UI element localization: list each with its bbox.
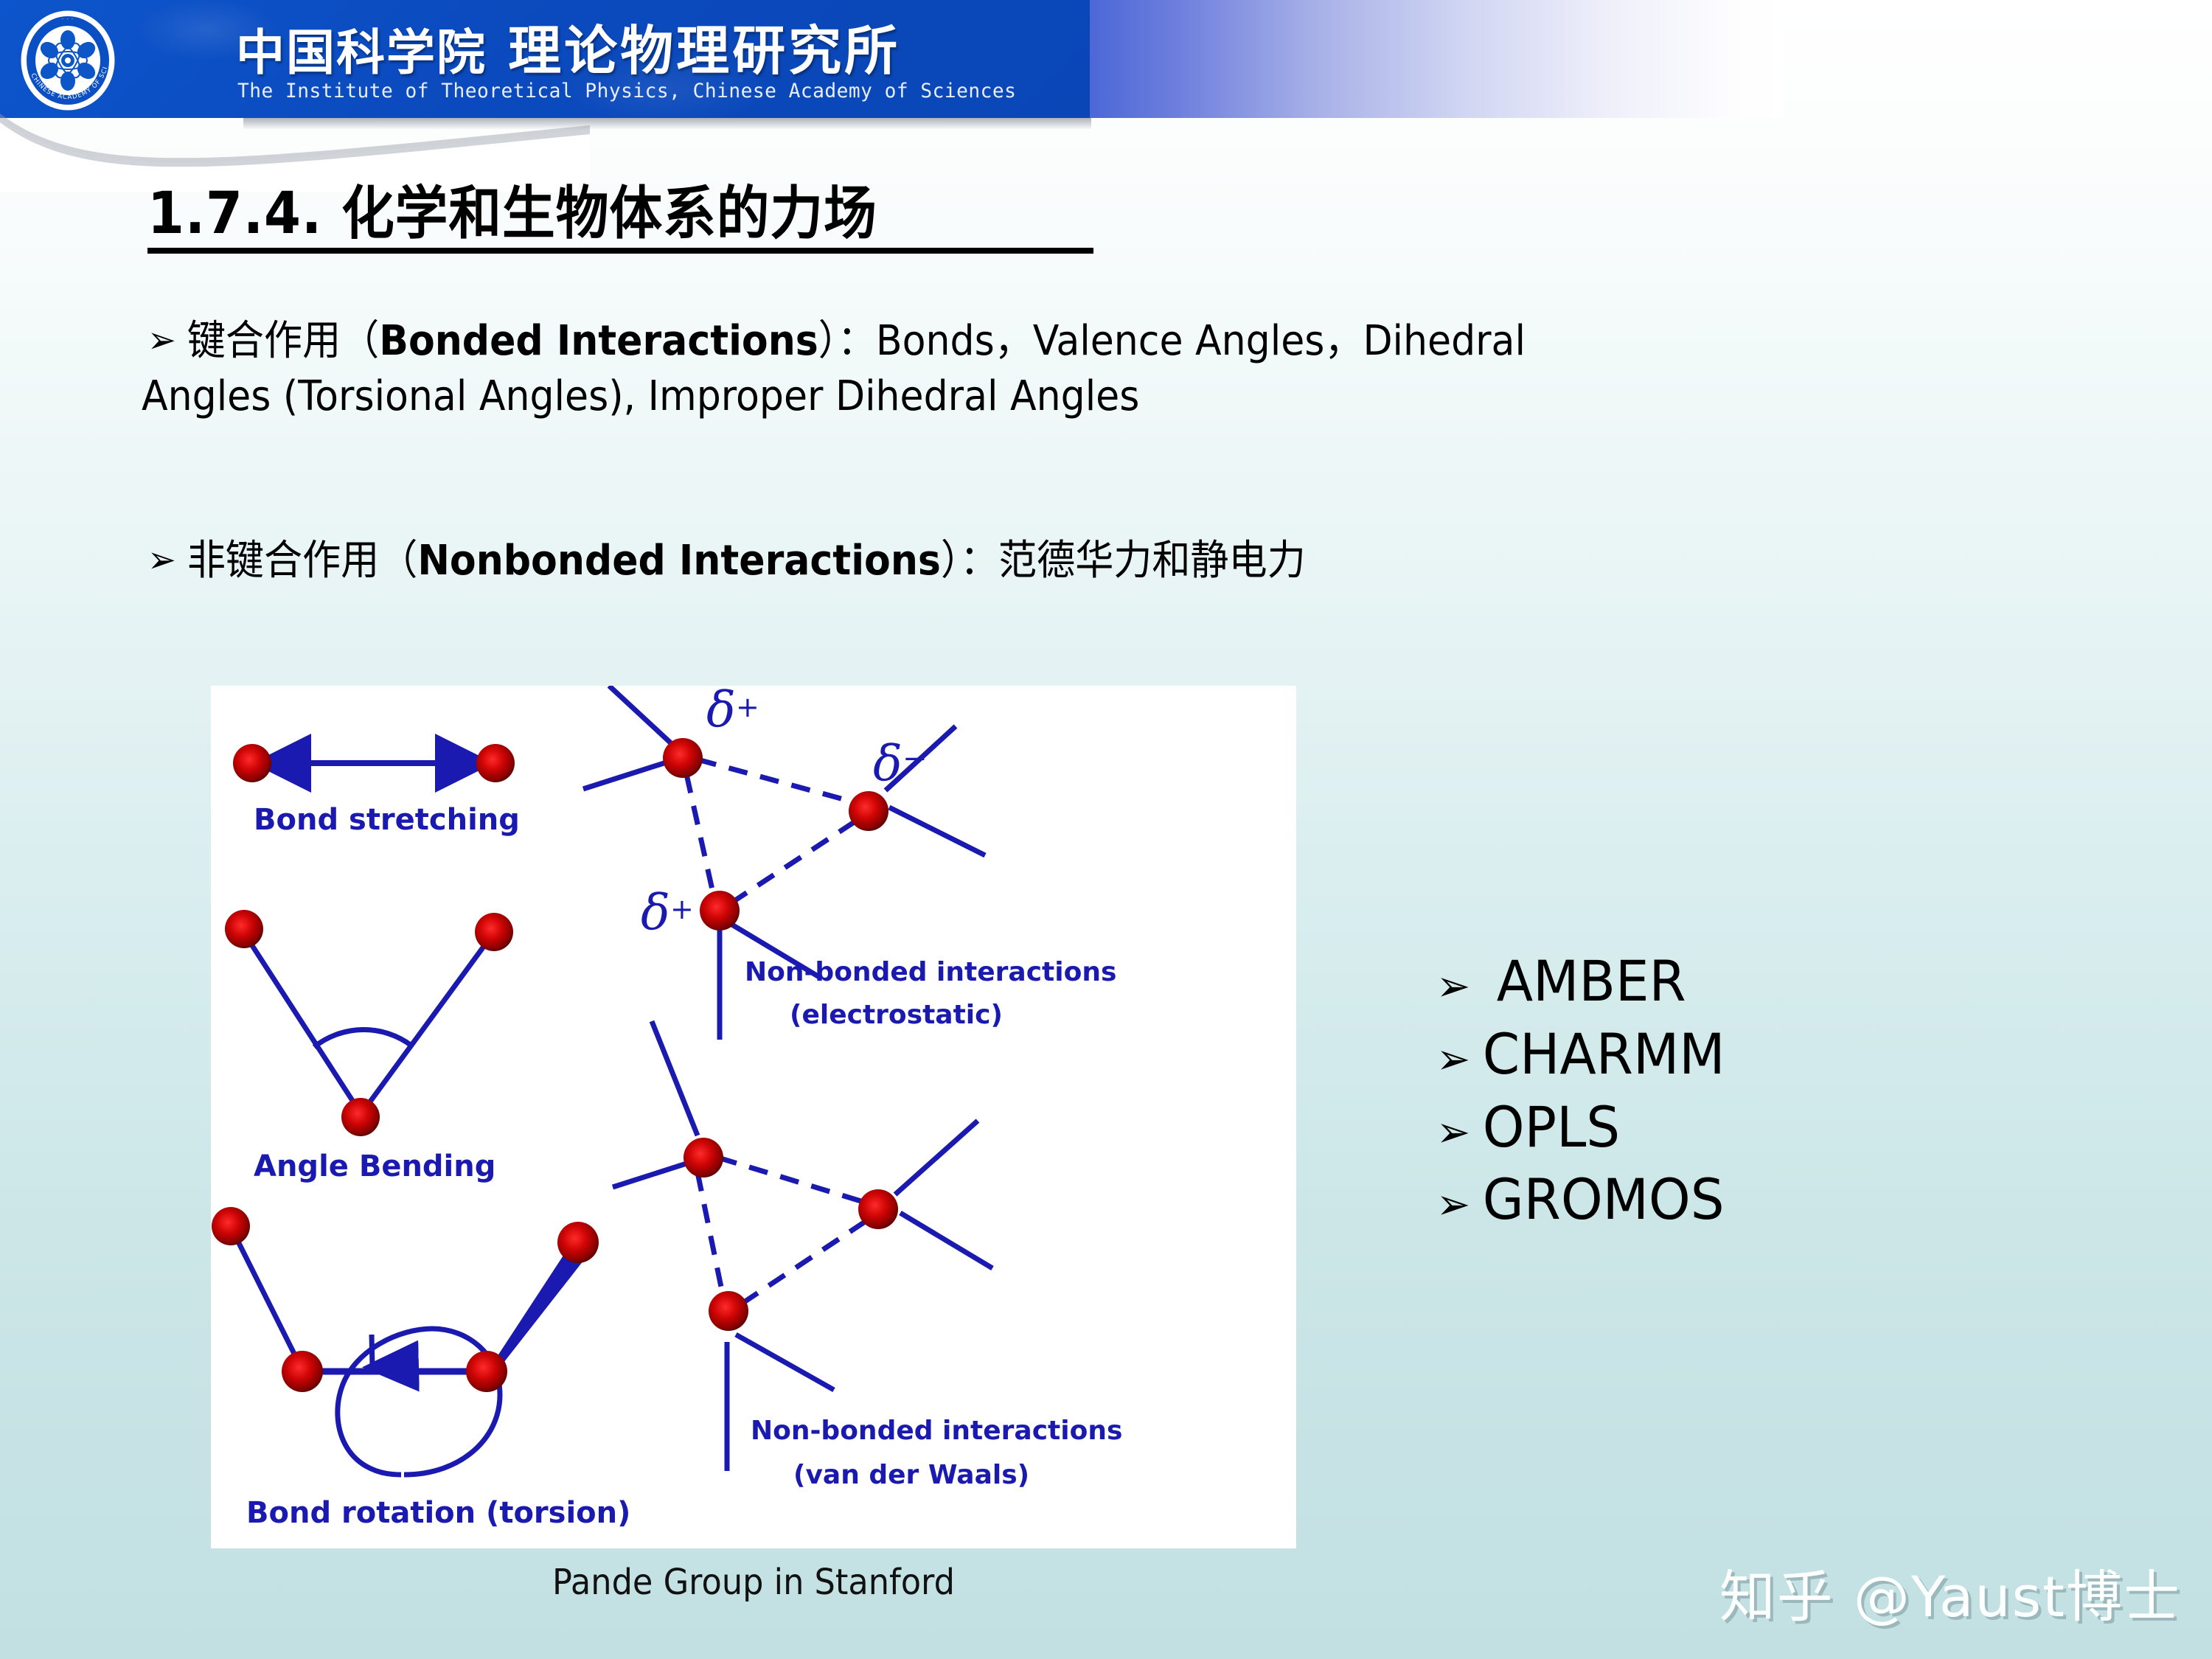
bullet-nonbonded-line1: ➢非键合作用（Nonbonded Interactions）：范德华力和静电力: [147, 538, 1903, 585]
watermark: 知乎 @Yaust博士: [1719, 1551, 2181, 1632]
slide-canvas: · · · CHINESE ACADEMY OF SCIENCES 中国科学院 …: [0, 0, 2212, 1659]
bullet-bonded-interactions: ➢键合作用（Bonded Interactions）：Bonds，Valence…: [147, 319, 2035, 420]
force-field-label: GROMOS: [1483, 1164, 1725, 1237]
bullet-bonded-rest: Bonds，Valence Angles，Dihedral: [876, 317, 1526, 365]
bullet-arrow-icon: ➢: [1436, 959, 1483, 1014]
svg-text:Bond rotation (torsion): Bond rotation (torsion): [246, 1496, 630, 1530]
svg-text:δ: δ: [873, 735, 902, 792]
force-field-label: AMBER: [1483, 945, 1686, 1018]
force-field-item-charmm[interactable]: ➢ CHARMM: [1436, 1018, 2067, 1091]
bullet-bonded-en: Bonded Interactions: [379, 317, 818, 365]
svg-text:(van der Waals): (van der Waals): [793, 1460, 1029, 1490]
bullet-nonbonded-cn-close: ）：: [941, 537, 998, 585]
svg-text:(electrostatic): (electrostatic): [790, 1000, 1003, 1030]
svg-text:+: +: [736, 691, 759, 723]
svg-text:Non-bonded interactions: Non-bonded interactions: [745, 957, 1116, 987]
force-field-label: CHARMM: [1483, 1018, 1725, 1091]
svg-text:Bond stretching: Bond stretching: [254, 803, 520, 837]
cas-logo-icon: · · · CHINESE ACADEMY OF SCIENCES: [16, 9, 119, 112]
header-banner: · · · CHINESE ACADEMY OF SCIENCES 中国科学院 …: [0, 0, 2212, 147]
force-field-label: OPLS: [1483, 1091, 1620, 1164]
svg-text:Non-bonded interactions: Non-bonded interactions: [751, 1416, 1122, 1446]
bullet-arrow-icon: ➢: [1436, 1032, 1483, 1087]
page-title-text: 1.7.4. 化学和生物体系的力场: [147, 184, 1097, 245]
bullet-arrow-icon: ➢: [1436, 1177, 1483, 1232]
bullet-arrow-icon: ➢: [147, 319, 176, 361]
force-field-list: ➢ AMBER ➢ CHARMM ➢ OPLS ➢ GROMOS: [1436, 945, 2100, 1237]
svg-text:· · ·: · · ·: [62, 16, 74, 22]
header-institution-cn-left: 中国科学院: [236, 24, 487, 81]
bullet-bonded-cn-close: ）：: [818, 317, 876, 365]
header-institution-cn-right: 理论物理研究所: [508, 20, 900, 82]
header-shadow-strip: [243, 118, 1091, 130]
svg-text:−: −: [902, 742, 928, 776]
svg-text:δ: δ: [641, 884, 670, 941]
page-title: 1.7.4. 化学和生物体系的力场: [147, 184, 1180, 254]
bullet-nonbonded-rest: 范德华力和静电力: [998, 537, 1306, 585]
svg-text:δ: δ: [706, 686, 736, 738]
bullet-bonded-cn: 键合作用（: [187, 317, 379, 365]
title-underline: [147, 248, 1093, 254]
svg-text:+: +: [670, 893, 694, 925]
svg-text:Angle Bending: Angle Bending: [254, 1150, 495, 1183]
header-text-block: 中国科学院 理论物理研究所 The Institute of Theoretic…: [236, 6, 1084, 116]
bullet-bonded-line1: ➢键合作用（Bonded Interactions）：Bonds，Valence…: [147, 319, 1903, 365]
bullet-nonbonded-interactions: ➢非键合作用（Nonbonded Interactions）：范德华力和静电力: [147, 538, 2035, 585]
bullet-arrow-icon: ➢: [147, 539, 176, 580]
force-field-item-amber[interactable]: ➢ AMBER: [1436, 945, 2067, 1018]
bullet-nonbonded-en: Nonbonded Interactions: [417, 537, 941, 585]
header-institution-cn: 中国科学院 理论物理研究所: [236, 7, 900, 85]
force-field-item-gromos[interactable]: ➢ GROMOS: [1436, 1164, 2067, 1237]
bullet-nonbonded-cn: 非键合作用（: [187, 537, 417, 585]
force-field-item-opls[interactable]: ➢ OPLS: [1436, 1091, 2067, 1164]
header-institution-en: The Institute of Theoretical Physics, Ch…: [237, 80, 1016, 102]
bullet-bonded-line2: Angles (Torsional Angles), Improper Dihe…: [142, 374, 1902, 420]
force-field-figure: Bond stretching Angle Bending: [211, 686, 1296, 1548]
bullet-arrow-icon: ➢: [1436, 1105, 1483, 1160]
figure-caption: Pande Group in Stanford: [249, 1562, 1259, 1603]
